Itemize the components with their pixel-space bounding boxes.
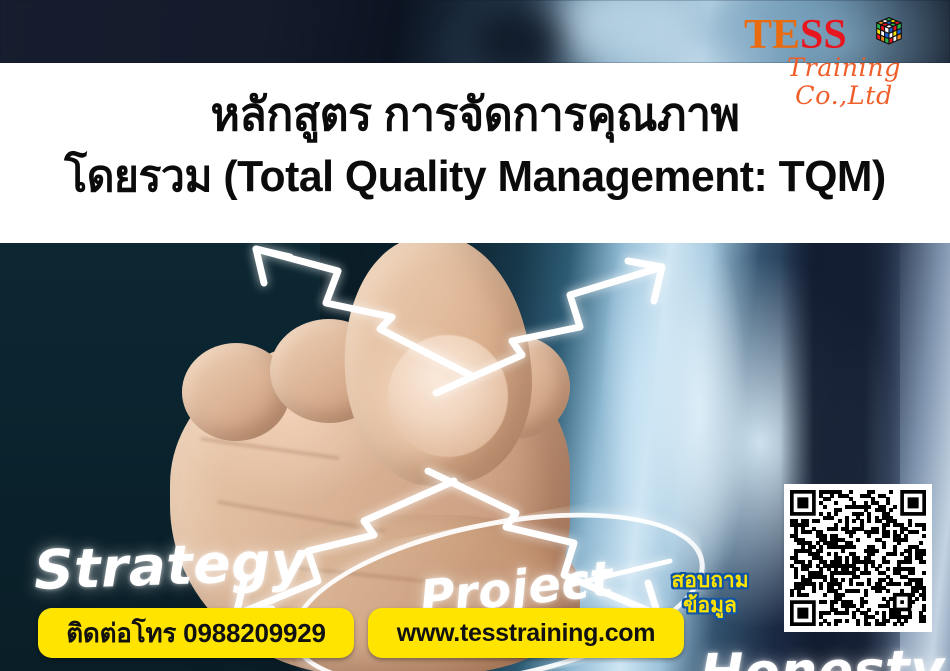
phone-label: ติดต่อโทร 0988209929 [66, 613, 326, 654]
logo-word-ss: SS [800, 12, 847, 58]
word-strategy: Strategy [33, 529, 308, 602]
website-label: www.tesstraining.com [397, 619, 655, 648]
strip-highlight-blob [560, 0, 690, 63]
phone-button[interactable]: ติดต่อโทร 0988209929 [38, 608, 354, 658]
logo-tagline: Training Co.,Ltd [744, 54, 944, 110]
arrow-up-right-icon [430, 243, 710, 403]
page-title-line-2: โดยรวม (Total Quality Management: TQM) [14, 149, 936, 205]
poster-root: TESS [0, 0, 950, 671]
logo-wordmark: TESS [744, 12, 847, 58]
qr-code-icon [790, 490, 926, 626]
word-honesty: Honesty [699, 640, 945, 671]
website-button[interactable]: www.tesstraining.com [368, 608, 684, 658]
tess-logo[interactable]: TESS [736, 12, 942, 90]
strip-dark-blob [470, 6, 560, 63]
logo-word-te: TE [744, 12, 800, 58]
qr-code[interactable] [784, 484, 932, 632]
qr-caption-line-1: สอบถาม [640, 568, 780, 593]
